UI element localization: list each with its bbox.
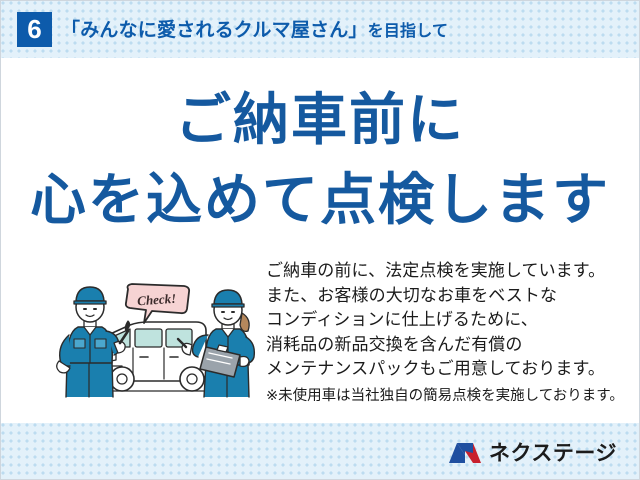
header-title: 「みんなに愛されるクルマ屋さん」を目指して — [61, 15, 448, 42]
nextage-logo: ネクステージ — [448, 441, 617, 465]
body-copy: ご納車の前に、法定点検を実施しています。 また、お客様の大切なお車をベストな コ… — [266, 259, 626, 407]
body-line-4: 消耗品の新品交換を含んだ有償の — [266, 333, 626, 358]
nextage-n-mark-icon — [448, 441, 482, 465]
mechanics-illustration: Check! — [56, 269, 268, 401]
header-title-tail: を目指して — [368, 23, 449, 40]
header-title-quoted: 「みんなに愛されるクルマ屋さん」 — [61, 20, 368, 41]
body-line-1: ご納車の前に、法定点検を実施しています。 — [266, 259, 626, 284]
advertisement-panel: 6 「みんなに愛されるクルマ屋さん」を目指して ご納車前に 心を込めて点検します — [0, 0, 640, 480]
headline-line-2: 心を込めて点検します — [1, 169, 639, 231]
body-line-5: メンテナンスパックもご用意しております。 — [266, 357, 626, 382]
body-line-2: また、お客様の大切なお車をベストな — [266, 284, 626, 309]
check-bubble-label: Check! — [137, 291, 177, 309]
brand-name: ネクステージ — [489, 443, 617, 464]
section-number-badge: 6 — [17, 12, 52, 47]
body-disclaimer-note: ※未使用車は当社独自の簡易点検を実施しております。 — [266, 385, 626, 407]
mechanics-illustration-svg: Check! — [56, 269, 268, 401]
body-line-3: コンディションに仕上げるために、 — [266, 308, 626, 333]
headline-line-1: ご納車前に — [1, 89, 639, 151]
